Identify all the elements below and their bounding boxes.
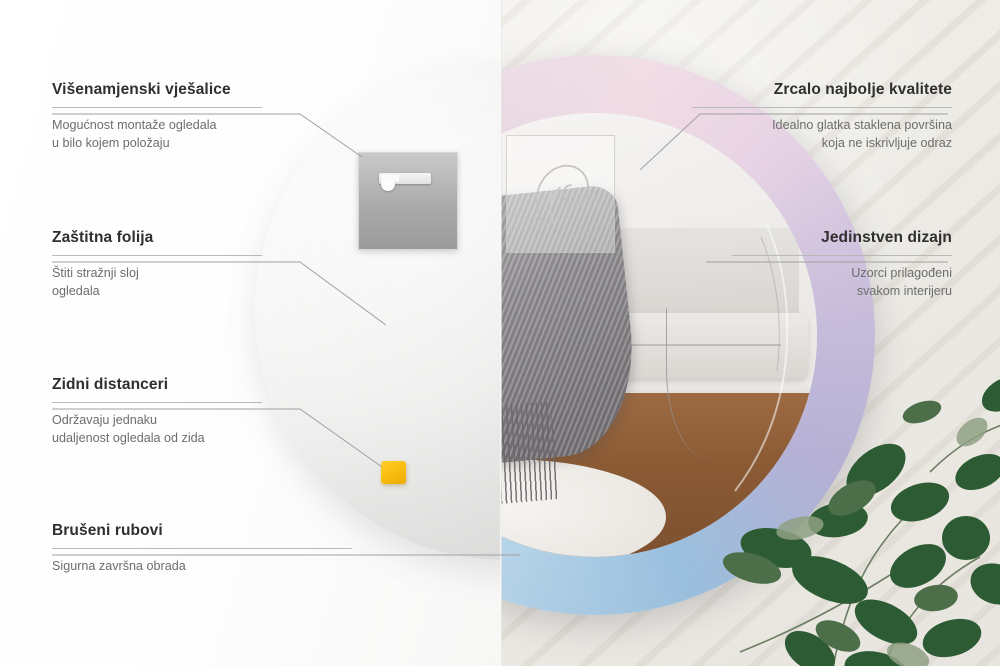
callout-zrcalo-najbolje-kvalitete: Zrcalo najbolje kvalitete Idealno glatka… xyxy=(692,80,952,152)
callout-body-line1: Uzorci prilagođeni xyxy=(732,265,952,283)
callout-zastitna-folija: Zaštitna folija Štiti stražnji sloj ogle… xyxy=(52,228,262,300)
mirror-back-surface xyxy=(255,60,501,560)
callout-body-line1: Idealno glatka staklena površina xyxy=(692,117,952,135)
callout-body-line2: koja ne iskrivljuje odraz xyxy=(692,135,952,153)
callout-bruseni-rubovi: Brušeni rubovi Sigurna završna obrada xyxy=(52,521,352,576)
callout-body-line2: svakom interijeru xyxy=(732,283,952,301)
callout-rule xyxy=(52,402,262,403)
callout-body-line1: Održavaju jednaku xyxy=(52,412,262,430)
callout-visenamjenski-vjesalice: Višenamjenski vješalice Mogućnost montaž… xyxy=(52,80,262,152)
callout-body-line1: Sigurna završna obrada xyxy=(52,558,352,576)
infographic-canvas: Višenamjenski vješalice Mogućnost montaž… xyxy=(0,0,1000,666)
callout-body-line2: u bilo kojem položaju xyxy=(52,135,262,153)
callout-zidni-distanceri: Zidni distanceri Održavaju jednaku udalj… xyxy=(52,375,262,447)
callout-body-line2: udaljenost ogledala od zida xyxy=(52,430,262,448)
callout-body-line2: ogledala xyxy=(52,283,262,301)
hanger-keyhole xyxy=(381,177,395,191)
callout-title: Zrcalo najbolje kvalitete xyxy=(692,80,952,100)
callout-title: Zidni distanceri xyxy=(52,375,262,395)
callout-rule xyxy=(732,255,952,256)
callout-jedinstven-dizajn: Jedinstven dizajn Uzorci prilagođeni sva… xyxy=(732,228,952,300)
disc-shading xyxy=(255,60,501,560)
callout-rule xyxy=(692,107,952,108)
panel-seam xyxy=(500,0,502,666)
callout-body-line1: Mogućnost montaže ogledala xyxy=(52,117,262,135)
callout-body-line1: Štiti stražnji sloj xyxy=(52,265,262,283)
callout-rule xyxy=(52,107,262,108)
callout-rule xyxy=(52,548,352,549)
foliage-plant xyxy=(680,352,1000,666)
callout-title: Zaštitna folija xyxy=(52,228,262,248)
callout-title: Jedinstven dizajn xyxy=(732,228,952,248)
hanger-plate xyxy=(358,152,458,250)
yellow-spacer xyxy=(381,461,406,484)
callout-title: Višenamjenski vješalice xyxy=(52,80,262,100)
callout-title: Brušeni rubovi xyxy=(52,521,352,541)
callout-rule xyxy=(52,255,262,256)
